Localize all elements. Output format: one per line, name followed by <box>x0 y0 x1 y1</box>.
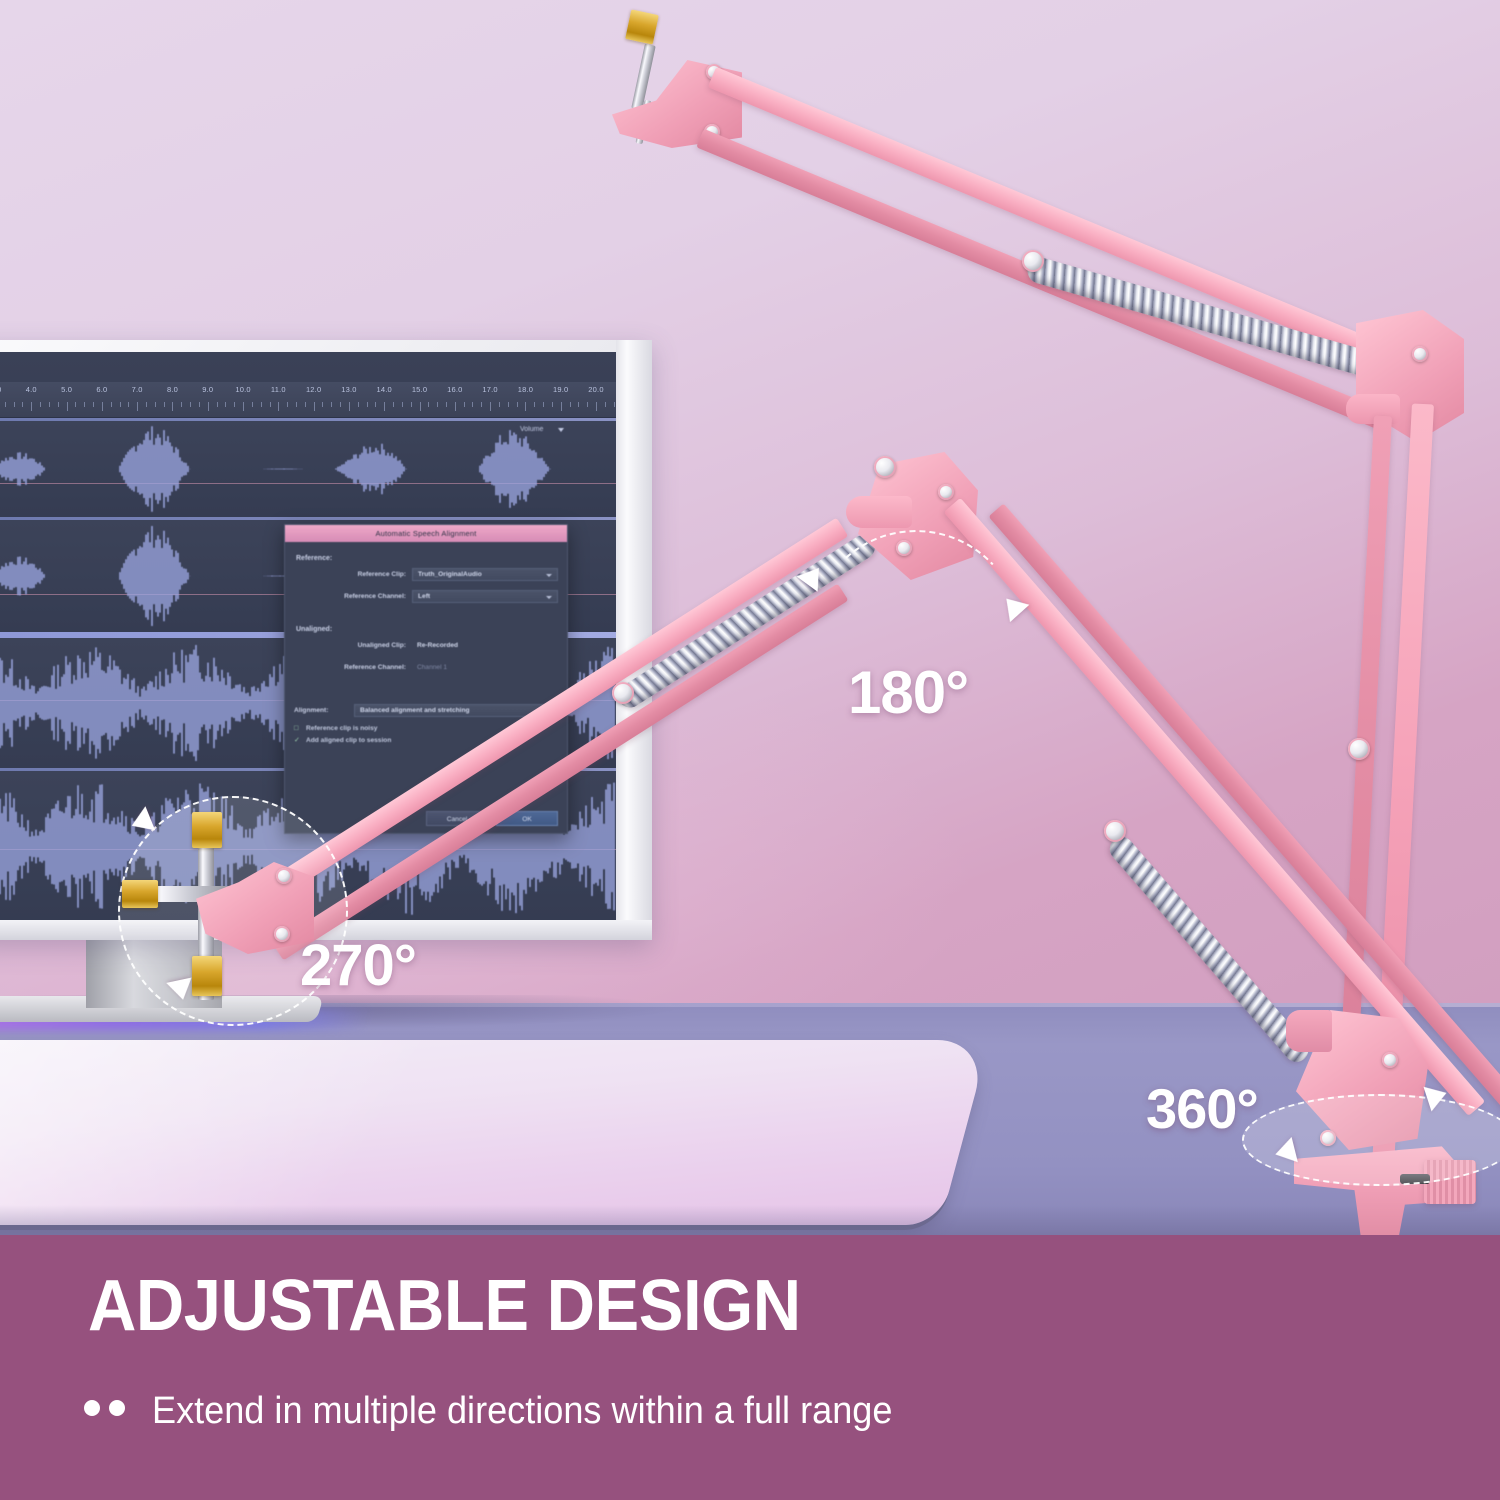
ruler-tick <box>490 402 491 411</box>
ruler-tick <box>420 402 421 411</box>
ruler-tick <box>464 402 465 407</box>
ruler-tick <box>234 402 235 407</box>
banner-subtitle: Extend in multiple directions within a f… <box>152 1390 892 1433</box>
field-value: Channel 1 <box>417 664 447 671</box>
ruler-tick <box>31 402 32 411</box>
ruler-tick <box>499 402 500 407</box>
ruler-tick <box>384 402 385 411</box>
rivet-icon <box>1348 738 1370 760</box>
ruler-tick <box>93 402 94 407</box>
ruler-tick <box>508 402 509 407</box>
field-control: Re-Recorded <box>412 639 558 652</box>
mid-joint-tab <box>846 496 912 528</box>
product-marketing-image: 3.04.05.06.07.08.09.010.011.012.013.014.… <box>0 0 1500 1500</box>
detail-thread-gold-bottom <box>192 956 222 996</box>
ruler-tick <box>120 402 121 407</box>
ruler-tick-label: 12.0 <box>306 385 321 394</box>
ruler-tick <box>261 402 262 407</box>
rivet-icon <box>1412 346 1428 362</box>
field-alignment[interactable]: Alignment: Balanced alignment and stretc… <box>294 703 558 718</box>
ruler-tick <box>137 402 138 411</box>
label-360-degrees: 360° <box>1146 1076 1258 1141</box>
field-control[interactable]: Truth_OriginalAudio <box>412 568 558 581</box>
ruler-tick-label: 18.0 <box>518 385 533 394</box>
ruler-tick-label: 9.0 <box>202 385 213 394</box>
ruler-tick <box>40 402 41 407</box>
ruler-tick-label: 8.0 <box>167 385 178 394</box>
ruler-tick <box>349 402 350 411</box>
rivet-icon <box>938 484 954 500</box>
desk-front-shadow <box>0 1205 1500 1237</box>
audio-track-1[interactable] <box>0 421 616 517</box>
field-value: Re-Recorded <box>417 642 458 649</box>
ruler-tick <box>578 402 579 407</box>
ruler-tick <box>331 402 332 407</box>
ruler-tick <box>225 402 226 407</box>
ruler-tick <box>402 402 403 407</box>
banner-title: ADJUSTABLE DESIGN <box>88 1265 801 1347</box>
ruler-tick-label: 15.0 <box>412 385 427 394</box>
ruler-tick <box>358 402 359 407</box>
ruler-tick <box>525 402 526 411</box>
ruler-tick <box>455 402 456 411</box>
ruler-tick <box>517 402 518 407</box>
rivet-icon <box>1104 820 1126 842</box>
ruler-tick <box>181 402 182 407</box>
ruler-tick-label: 3.0 <box>0 385 2 394</box>
ruler-tick <box>270 402 271 407</box>
field-label: Reference Channel: <box>294 664 412 671</box>
ruler-tick <box>614 402 615 407</box>
ruler-tick <box>5 402 6 407</box>
ruler-tick <box>102 402 103 411</box>
ruler-tick <box>552 402 553 407</box>
ruler-tick <box>278 402 279 411</box>
ruler-tick <box>146 402 147 407</box>
ruler-tick <box>314 402 315 411</box>
volume-label[interactable]: Volume <box>520 426 543 433</box>
ruler-tick-label: 14.0 <box>377 385 392 394</box>
field-unaligned-clip: Unaligned Clip: Re-Recorded <box>294 638 558 653</box>
detail-thread-gold-left <box>122 880 158 908</box>
checkbox-label: Add aligned clip to session <box>306 737 391 744</box>
ruler-tick <box>340 402 341 407</box>
ruler-tick-label: 11.0 <box>271 385 286 394</box>
dialog-title: Automatic Speech Alignment <box>285 525 567 542</box>
ruler-tick <box>446 402 447 407</box>
ruler-tick-label: 20.0 <box>588 385 603 394</box>
field-value: Balanced alignment and stretching <box>360 707 470 714</box>
chevron-down-icon[interactable] <box>546 574 552 577</box>
field-control[interactable]: Left <box>412 590 558 603</box>
ruler-tick <box>217 402 218 407</box>
ruler-tick <box>375 402 376 407</box>
field-value: Truth_OriginalAudio <box>418 571 482 578</box>
ruler-tick <box>472 402 473 407</box>
ruler-tick <box>570 402 571 407</box>
rivet-icon <box>276 868 292 884</box>
ruler-tick <box>14 402 15 407</box>
chevron-down-icon[interactable] <box>546 596 552 599</box>
desk-mat <box>0 1040 990 1225</box>
ruler-tick <box>296 402 297 407</box>
ruler-tick <box>393 402 394 407</box>
ruler-tick-label: 16.0 <box>447 385 462 394</box>
ruler-tick-label: 19.0 <box>553 385 568 394</box>
ruler-tick <box>481 402 482 407</box>
detail-thread-gold-top <box>192 812 222 848</box>
ruler-tick <box>84 402 85 407</box>
ruler-tick <box>49 402 50 407</box>
rivet-icon <box>874 456 896 478</box>
ruler-tick <box>305 402 306 407</box>
ruler-tick <box>534 402 535 407</box>
timeline-ruler[interactable]: 3.04.05.06.07.08.09.010.011.012.013.014.… <box>0 382 616 418</box>
ruler-tick <box>75 402 76 407</box>
ruler-tick <box>252 402 253 407</box>
field-value: Left <box>418 593 430 600</box>
label-270-degrees: 270° <box>300 932 416 999</box>
field-label: Unaligned Clip: <box>294 642 412 649</box>
field-label: Alignment: <box>294 707 354 714</box>
checkbox-label: Reference clip is noisy <box>306 725 377 732</box>
ruler-tick <box>22 402 23 407</box>
checkbox-checked-icon[interactable]: ✓ <box>294 737 301 744</box>
bullet-dots-icon <box>84 1400 125 1416</box>
field-reference-clip[interactable]: Reference Clip: Truth_OriginalAudio <box>294 567 558 582</box>
chevron-down-icon[interactable] <box>558 428 564 432</box>
field-reference-channel[interactable]: Reference Channel: Left <box>294 589 558 604</box>
ruler-tick-label: 5.0 <box>61 385 72 394</box>
ruler-tick <box>428 402 429 407</box>
ruler-tick <box>287 402 288 407</box>
ruler-tick-label: 7.0 <box>132 385 143 394</box>
ruler-tick <box>543 402 544 407</box>
ruler-tick <box>367 402 368 407</box>
rivet-icon <box>1382 1052 1398 1068</box>
ruler-tick <box>111 402 112 407</box>
field-control: Channel 1 <box>412 661 558 674</box>
ruler-tick <box>587 402 588 407</box>
rivet-icon <box>274 926 290 942</box>
base-tab <box>1286 1010 1332 1052</box>
ruler-tick <box>164 402 165 407</box>
ruler-tick <box>208 402 209 411</box>
ruler-tick <box>411 402 412 407</box>
ruler-tick <box>243 402 244 411</box>
ruler-tick-label: 6.0 <box>96 385 107 394</box>
ruler-tick <box>437 402 438 407</box>
checkbox-unchecked-icon[interactable]: □ <box>294 725 301 732</box>
ruler-tick <box>58 402 59 407</box>
label-180-degrees: 180° <box>848 658 968 727</box>
ruler-tick <box>605 402 606 407</box>
waveform-icon <box>0 421 616 517</box>
field-label: Reference Channel: <box>294 593 412 600</box>
section-heading-reference: Reference: <box>296 555 558 562</box>
ruler-tick <box>596 402 597 411</box>
rivet-icon <box>1022 250 1044 272</box>
ruler-tick <box>172 402 173 411</box>
ruler-tick <box>67 402 68 411</box>
field-label: Reference Clip: <box>294 571 412 578</box>
ruler-tick <box>561 402 562 411</box>
ruler-tick <box>322 402 323 407</box>
ruler-tick <box>128 402 129 407</box>
section-heading-unaligned: Unaligned: <box>296 626 558 633</box>
field-unaligned-channel: Reference Channel: Channel 1 <box>294 660 558 675</box>
ruler-tick-label: 13.0 <box>341 385 356 394</box>
ruler-tick <box>199 402 200 407</box>
ruler-tick <box>190 402 191 407</box>
rivet-icon <box>612 682 634 704</box>
ruler-tick-label: 10.0 <box>235 385 250 394</box>
ruler-tick <box>155 402 156 407</box>
ruler-tick-label: 4.0 <box>26 385 37 394</box>
ruler-tick-label: 17.0 <box>482 385 497 394</box>
